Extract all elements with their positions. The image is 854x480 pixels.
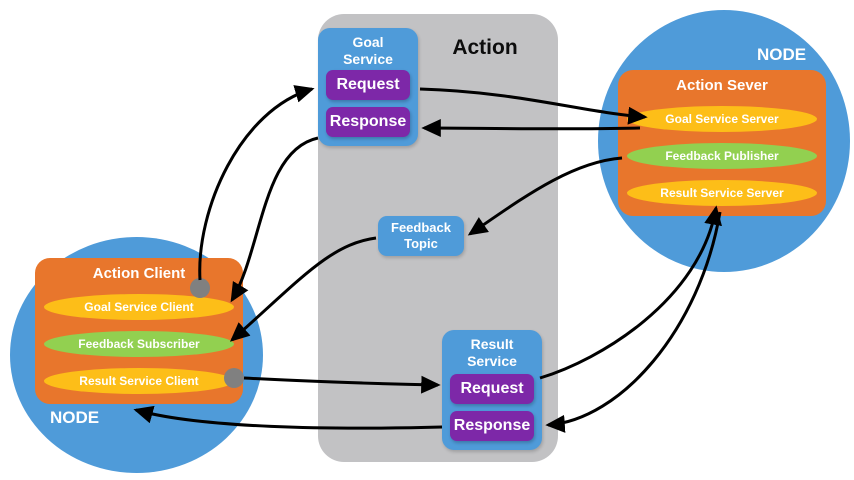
- goal-service-response-chip[interactable]: Response: [326, 107, 410, 137]
- result-service-request-chip[interactable]: Request: [450, 374, 534, 404]
- feedback-topic-line2: Topic: [391, 236, 451, 252]
- connector-dot-result-client: [224, 368, 244, 388]
- connector-dot-goal-client: [190, 278, 210, 298]
- action-server-title: Action Sever: [618, 77, 826, 94]
- feedback-topic-line1: Feedback: [391, 220, 451, 236]
- goal-service-box[interactable]: Goal Service Request Response: [318, 28, 418, 146]
- pill-result-service-server[interactable]: Result Service Server: [627, 180, 817, 206]
- diagram-canvas: Action Goal Service Request Response Fee…: [0, 0, 854, 480]
- result-service-title: Result Service: [442, 336, 542, 370]
- client-node-label: NODE: [50, 408, 99, 428]
- result-service-box[interactable]: Result Service Request Response: [442, 330, 542, 450]
- action-client-panel[interactable]: Action Client Goal Service Client Feedba…: [35, 258, 243, 404]
- action-group-label: Action: [430, 36, 540, 60]
- goal-service-request-chip[interactable]: Request: [326, 70, 410, 100]
- arrow-goalresponse-to-goalclient: [232, 138, 318, 300]
- goal-service-title-line2: Service: [318, 51, 418, 68]
- goal-service-title-line1: Goal: [318, 34, 418, 51]
- result-service-response-chip[interactable]: Response: [450, 411, 534, 441]
- arrow-goalclient-to-goalrequest: [200, 89, 312, 280]
- pill-goal-service-client[interactable]: Goal Service Client: [44, 294, 234, 320]
- goal-service-title: Goal Service: [318, 34, 418, 68]
- feedback-topic-box[interactable]: Feedback Topic: [378, 216, 464, 256]
- action-client-title: Action Client: [35, 265, 243, 282]
- result-service-title-line1: Result: [442, 336, 542, 353]
- pill-feedback-subscriber[interactable]: Feedback Subscriber: [44, 331, 234, 357]
- feedback-topic-label: Feedback Topic: [391, 220, 451, 252]
- pill-result-service-client[interactable]: Result Service Client: [44, 368, 234, 394]
- pill-feedback-publisher[interactable]: Feedback Publisher: [627, 143, 817, 169]
- pill-goal-service-server[interactable]: Goal Service Server: [627, 106, 817, 132]
- action-server-panel[interactable]: Action Sever Goal Service Server Feedbac…: [618, 70, 826, 216]
- server-node-label: NODE: [757, 45, 806, 65]
- result-service-title-line2: Service: [442, 353, 542, 370]
